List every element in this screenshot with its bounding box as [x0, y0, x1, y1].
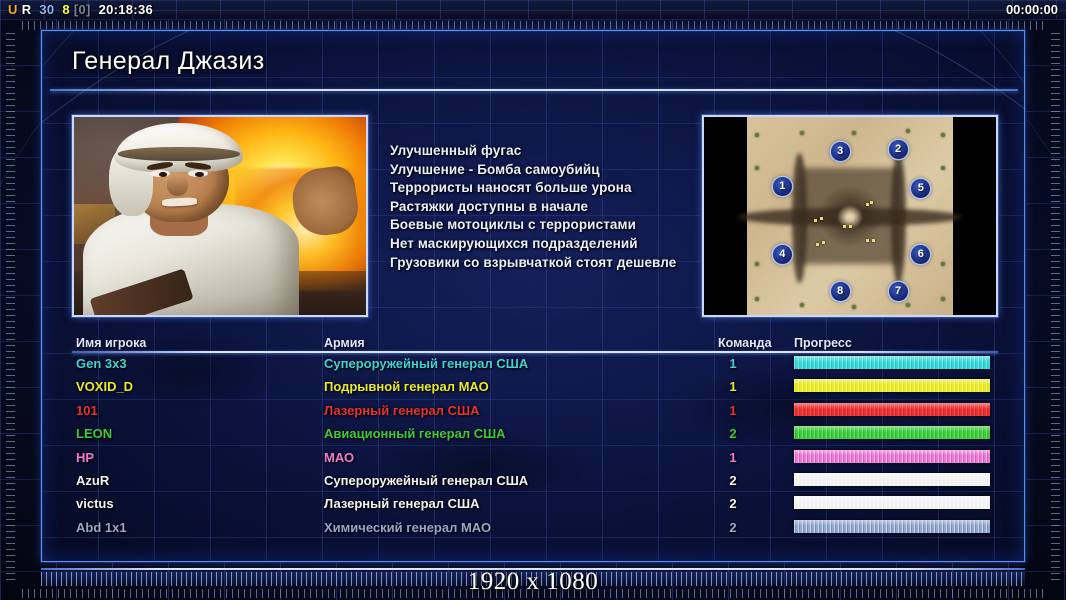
map-tree-icon [941, 262, 945, 266]
map-start-position[interactable]: 2 [889, 140, 908, 159]
map-supply-icon [843, 225, 846, 228]
player-army: Супероружейный генерал США [324, 356, 528, 371]
map-tree-icon [852, 305, 856, 309]
map-start-position[interactable]: 6 [911, 245, 930, 264]
player-progress [794, 379, 990, 392]
player-progress [794, 473, 990, 486]
player-team: 1 [718, 450, 748, 465]
player-progress [794, 356, 990, 369]
status-clock: 20:18:36 [99, 2, 153, 17]
ruler-top [22, 21, 1044, 30]
portrait-headcord [118, 147, 241, 161]
bonus-line: Грузовики со взрывчаткой стоят дешевле [390, 254, 690, 273]
map-supply-icon [849, 225, 852, 228]
player-name: victus [76, 496, 114, 511]
ruler-left [6, 33, 15, 585]
player-name: 101 [76, 403, 98, 418]
map-supply-icon [816, 243, 819, 246]
player-team: 1 [718, 356, 748, 371]
player-army: Подрывной генерал МАО [324, 379, 489, 394]
player-name: Gen 3x3 [76, 356, 127, 371]
map-supply-icon [866, 203, 869, 206]
map-start-position[interactable]: 1 [773, 177, 792, 196]
general-info-panel: Генерал Джазиз [41, 30, 1025, 562]
general-portrait [72, 115, 368, 317]
player-army: МАО [324, 450, 354, 465]
player-team: 1 [718, 403, 748, 418]
player-progress [794, 426, 990, 439]
player-list: Имя игрока Армия Команда Прогресс Gen 3x… [72, 331, 998, 549]
status-prefix-u: U [8, 2, 18, 17]
header-team: Команда [718, 336, 772, 350]
player-army: Химический генерал МАО [324, 520, 491, 535]
table-row[interactable]: AzuRСупероружейный генерал США2 [72, 470, 998, 493]
map-tree-icon [941, 133, 945, 137]
map-ridge-left [792, 153, 806, 284]
status-ping: 30 [39, 2, 54, 17]
map-start-position[interactable]: 5 [911, 179, 930, 198]
progress-bar-fill [794, 450, 990, 463]
map-supply-icon [866, 239, 869, 242]
player-list-header: Имя игрока Армия Команда Прогресс [72, 331, 998, 353]
bonus-line: Террористы наносят больше урона [390, 179, 690, 198]
player-army: Лазерный генерал США [324, 496, 479, 511]
map-tree-icon [941, 297, 945, 301]
map-start-position[interactable]: 4 [773, 245, 792, 264]
player-army: Лазерный генерал США [324, 403, 479, 418]
progress-bar-fill [794, 473, 990, 486]
table-row[interactable]: 101Лазерный генерал США1 [72, 400, 998, 423]
map-start-position[interactable]: 7 [889, 282, 908, 301]
progress-bar-gloss [794, 379, 990, 385]
header-progress: Прогресс [794, 336, 990, 350]
top-status-bar: UR 30 8[0] 20:18:36 00:00:00 [0, 0, 1066, 19]
progress-bar-gloss [794, 496, 990, 502]
player-team: 2 [718, 496, 748, 511]
bonus-line: Боевые мотоциклы с террористами [390, 216, 690, 235]
table-row[interactable]: victusЛазерный генерал США2 [72, 493, 998, 516]
map-tree-icon [755, 166, 759, 170]
resolution-label: 1920 x 1080 [0, 568, 1066, 596]
map-supply-icon [814, 219, 817, 222]
player-name: Abd 1x1 [76, 520, 127, 535]
map-tree-icon [852, 131, 856, 135]
map-tree-icon [755, 262, 759, 266]
player-team: 2 [718, 473, 748, 488]
progress-bar-gloss [794, 356, 990, 362]
table-row[interactable]: HPМАО1 [72, 447, 998, 470]
status-spectator-count: [0] [74, 2, 91, 17]
map-start-position[interactable]: 8 [831, 282, 850, 301]
map-start-position[interactable]: 3 [831, 142, 850, 161]
bonus-line: Улучшение - Бомба самоубийц [390, 161, 690, 180]
title-divider-line [50, 89, 1018, 91]
bonus-line: Растяжки доступны в начале [390, 198, 690, 217]
map-preview: 12345678 [702, 115, 998, 317]
table-row[interactable]: VOXID_DПодрывной генерал МАО1 [72, 376, 998, 399]
map-tree-icon [800, 303, 804, 307]
progress-bar [794, 473, 990, 486]
table-row[interactable]: Abd 1x1Химический генерал МАО2 [72, 517, 998, 540]
progress-bar-gloss [794, 473, 990, 479]
status-prefix-r: R [22, 2, 32, 17]
map-ridge-right [891, 153, 905, 284]
progress-bar-fill [794, 426, 990, 439]
map-supply-icon [822, 241, 825, 244]
progress-bar-fill [794, 520, 990, 533]
progress-bar [794, 520, 990, 533]
ruler-right [1051, 33, 1060, 585]
map-tree-icon [755, 133, 759, 137]
table-row[interactable]: Gen 3x3Супероружейный генерал США1 [72, 353, 998, 376]
progress-bar-fill [794, 496, 990, 509]
player-team: 2 [718, 426, 748, 441]
progress-bar-fill [794, 379, 990, 392]
page-title: Генерал Джазиз [72, 47, 265, 76]
progress-bar-gloss [794, 520, 990, 526]
map-terrain: 12345678 [747, 117, 954, 315]
progress-bar [794, 450, 990, 463]
progress-bar [794, 356, 990, 369]
header-player-name: Имя игрока [76, 336, 146, 350]
player-army: Авиационный генерал США [324, 426, 506, 441]
progress-bar-gloss [794, 403, 990, 409]
progress-bar [794, 496, 990, 509]
progress-bar [794, 426, 990, 439]
player-name: VOXID_D [76, 379, 133, 394]
progress-bar-gloss [794, 450, 990, 456]
header-army: Армия [324, 336, 365, 350]
portrait-pupil-right [195, 172, 204, 177]
player-progress [794, 403, 990, 416]
player-progress [794, 496, 990, 509]
player-name: LEON [76, 426, 112, 441]
map-tree-icon [906, 129, 910, 133]
player-name: HP [76, 450, 94, 465]
general-bonus-list: Улучшенный фугасУлучшение - Бомба самоуб… [390, 142, 690, 272]
general-summary-row: Улучшенный фугасУлучшение - Бомба самоуб… [42, 99, 1025, 317]
progress-bar-fill [794, 403, 990, 416]
map-supply-icon [820, 217, 823, 220]
portrait-nose [167, 176, 187, 196]
server-status-text: UR 30 8[0] 20:18:36 [8, 2, 157, 17]
player-team: 2 [718, 520, 748, 535]
player-name: AzuR [76, 473, 109, 488]
map-tree-icon [755, 297, 759, 301]
player-progress [794, 450, 990, 463]
bonus-line: Улучшенный фугас [390, 142, 690, 161]
map-supply-icon [872, 239, 875, 242]
map-supply-icon [870, 201, 873, 204]
progress-bar [794, 403, 990, 416]
match-timer: 00:00:00 [1006, 2, 1058, 17]
player-team: 1 [718, 379, 748, 394]
progress-bar-fill [794, 356, 990, 369]
table-row[interactable]: LEONАвиационный генерал США2 [72, 423, 998, 446]
map-tree-icon [906, 303, 910, 307]
player-army: Супероружейный генерал США [324, 473, 528, 488]
bonus-line: Нет маскирующихся подразделений [390, 235, 690, 254]
map-tree-icon [941, 166, 945, 170]
status-player-count: 8 [62, 2, 70, 17]
map-tree-icon [800, 131, 804, 135]
player-list-body: Gen 3x3Супероружейный генерал США1VOXID_… [72, 353, 998, 540]
player-progress [794, 520, 990, 533]
progress-bar [794, 379, 990, 392]
progress-bar-gloss [794, 426, 990, 432]
